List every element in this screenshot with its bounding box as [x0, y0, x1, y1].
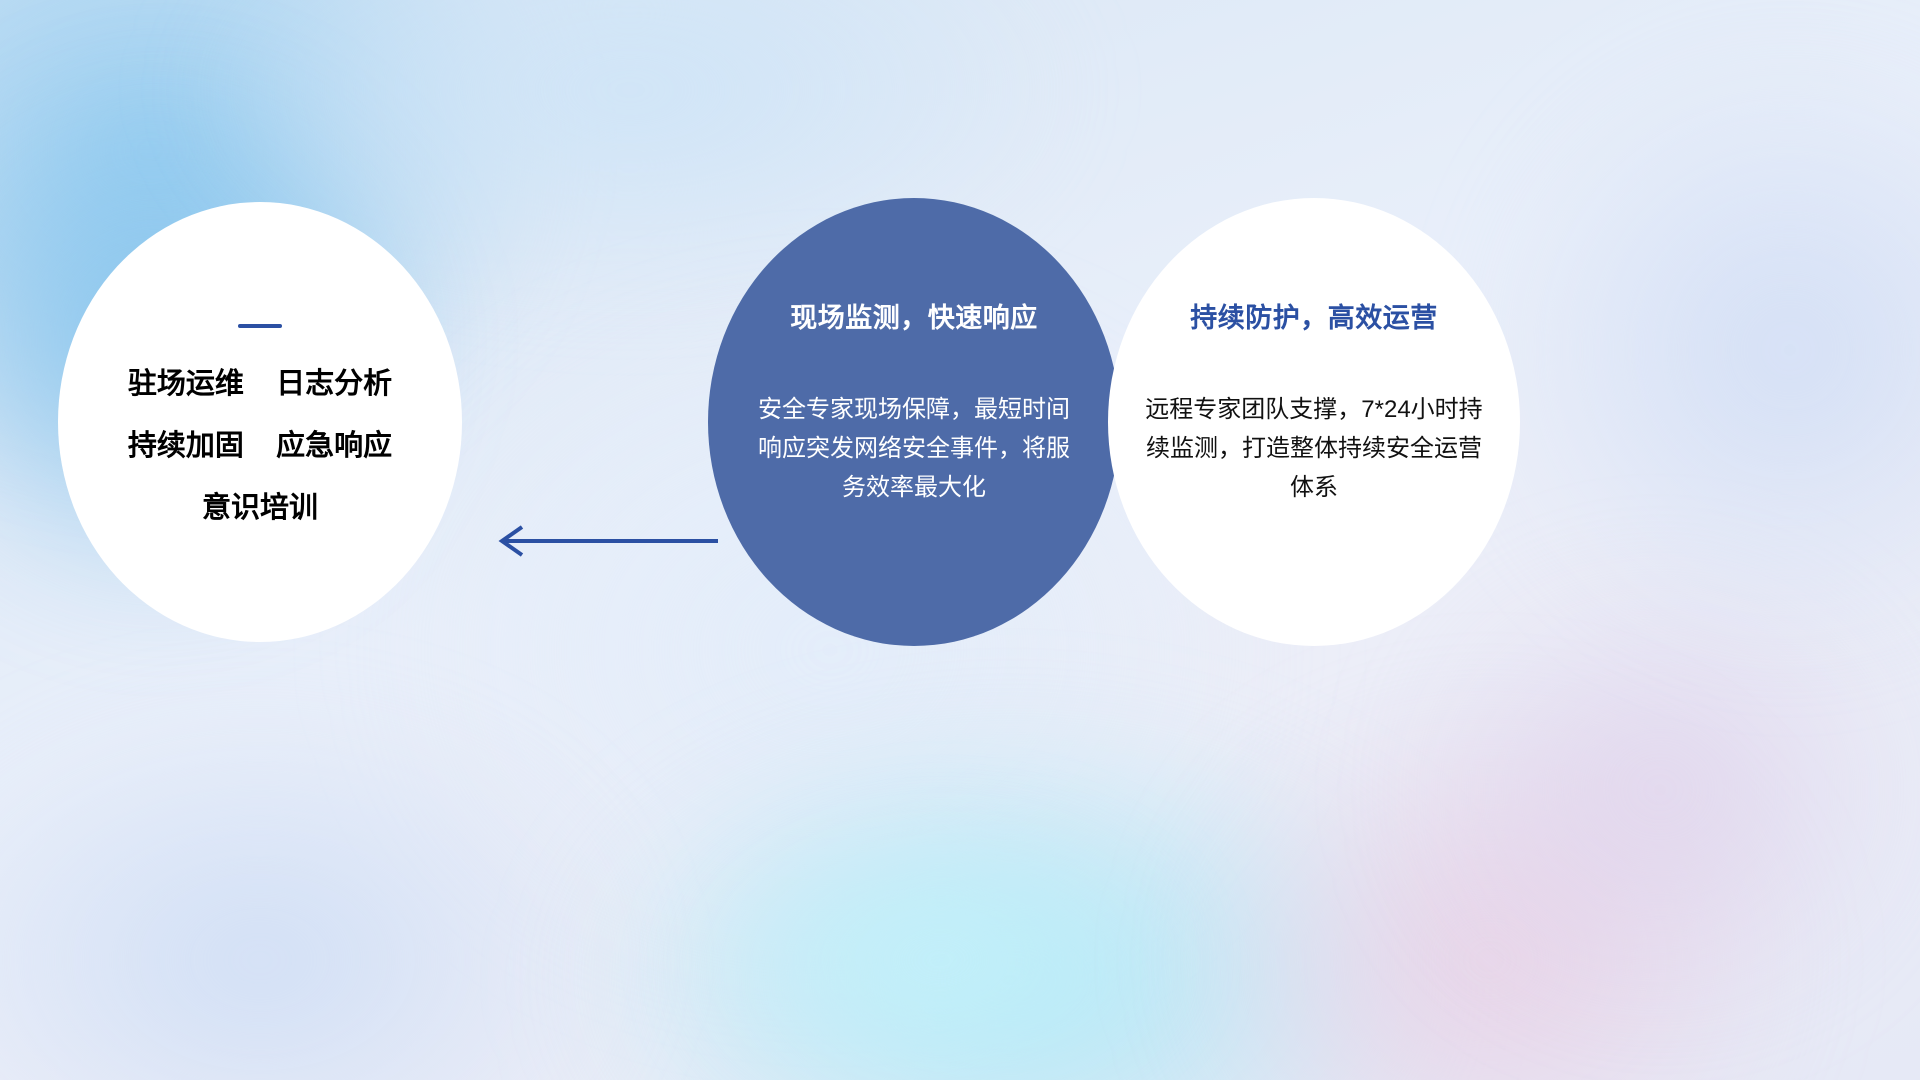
background-glow-bottom-cyan-core	[680, 810, 1200, 1080]
right-circle-content: 持续防护，高效运营 远程专家团队支撑，7*24小时持续监测，打造整体持续安全运营…	[1108, 198, 1520, 646]
right-circle-title: 持续防护，高效运营	[1190, 296, 1438, 335]
background-glow-bottom-left	[0, 700, 640, 1080]
divider-dash	[238, 324, 282, 328]
slide-canvas: 驻场运维 日志分析 持续加固 应急响应 意识培训 现场监测，快速响应 安全专家现…	[0, 0, 1920, 1080]
background-glow-bottom-cyan	[560, 720, 1460, 1080]
background-glow-top-right	[1480, 40, 1920, 660]
capability-list: 驻场运维 日志分析 持续加固 应急响应 意识培训	[128, 370, 392, 523]
capability-line-2: 持续加固 应急响应	[128, 432, 392, 461]
background-glow-bottom-right-pink	[1180, 700, 1800, 1080]
capability-line-3: 意识培训	[128, 494, 392, 523]
right-circle-body: 远程专家团队支撑，7*24小时持续监测，打造整体持续安全运营体系	[1140, 391, 1488, 508]
left-circle: 驻场运维 日志分析 持续加固 应急响应 意识培训	[58, 202, 462, 642]
left-circle-content: 驻场运维 日志分析 持续加固 应急响应 意识培训	[58, 202, 462, 642]
capability-line-1: 驻场运维 日志分析	[128, 370, 392, 399]
flow-arrow-left-icon	[490, 520, 720, 562]
middle-circle	[708, 198, 1120, 646]
